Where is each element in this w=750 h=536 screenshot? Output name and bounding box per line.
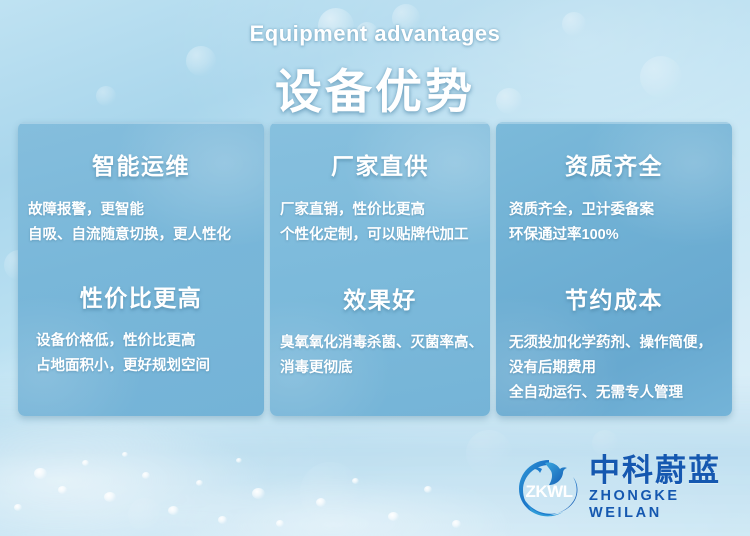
advantage-body: 厂家直销，性价比更高 个性化定制，可以贴牌代加工 <box>270 181 490 248</box>
advantage-block: 性价比更高 设备价格低，性价比更高 占地面积小，更好规划空间 <box>18 248 264 379</box>
advantage-line: 环保通过率100% <box>509 223 732 248</box>
advantage-line: 资质齐全，卫计委备案 <box>509 198 732 223</box>
page-title-cn: 设备优势 <box>0 53 750 122</box>
advantage-line: 消毒更彻底 <box>280 356 490 381</box>
advantage-line: 故障报警，更智能 <box>28 198 264 223</box>
advantage-heading: 厂家直供 <box>270 147 490 181</box>
advantage-block: 厂家直供 厂家直销，性价比更高 个性化定制，可以贴牌代加工 <box>270 122 490 248</box>
advantage-heading: 资质齐全 <box>496 147 732 181</box>
page-title-en: Equipment advantages <box>0 21 750 47</box>
advantage-panel-1[interactable]: 智能运维 故障报警，更智能 自吸、自流随意切换，更人性化 性价比更高 设备价格低… <box>18 122 264 416</box>
advantage-body: 故障报警，更智能 自吸、自流随意切换，更人性化 <box>18 181 264 248</box>
company-logo[interactable]: ZKWL 中科蔚蓝 ZHONGKE WEILAN <box>515 452 737 522</box>
advantage-block: 资质齐全 资质齐全，卫计委备案 环保通过率100% <box>496 122 732 248</box>
advantage-heading: 节约成本 <box>496 281 732 315</box>
advantage-heading: 效果好 <box>270 281 490 315</box>
advantage-heading: 智能运维 <box>18 147 264 181</box>
advantage-body: 臭氧氧化消毒杀菌、灭菌率高、 消毒更彻底 <box>270 315 490 381</box>
advantage-panel-3[interactable]: 资质齐全 资质齐全，卫计委备案 环保通过率100% 节约成本 无须投加化学药剂、… <box>496 122 732 416</box>
advantage-line: 自吸、自流随意切换，更人性化 <box>28 223 264 248</box>
advantage-body: 无须投加化学药剂、操作简便， 没有后期费用 全自动运行、无需专人管理 <box>496 315 732 406</box>
advantage-panels: 智能运维 故障报警，更智能 自吸、自流随意切换，更人性化 性价比更高 设备价格低… <box>18 122 732 416</box>
logo-name-en: ZHONGKE WEILAN <box>589 488 737 522</box>
logo-wordmark: 中科蔚蓝 ZHONGKE WEILAN <box>589 452 737 522</box>
advantage-line: 占地面积小，更好规划空间 <box>36 354 264 379</box>
advantage-body: 资质齐全，卫计委备案 环保通过率100% <box>496 181 732 248</box>
poster-canvas: Equipment advantages 设备优势 智能运维 故障报警，更智能 … <box>0 0 750 536</box>
logo-name-cn: 中科蔚蓝 <box>589 454 737 488</box>
advantage-block: 效果好 臭氧氧化消毒杀菌、灭菌率高、 消毒更彻底 <box>270 248 490 381</box>
advantage-line: 臭氧氧化消毒杀菌、灭菌率高、 <box>280 331 490 356</box>
advantage-line: 设备价格低，性价比更高 <box>36 329 264 354</box>
advantage-line: 个性化定制，可以贴牌代加工 <box>280 223 490 248</box>
advantage-heading: 性价比更高 <box>18 279 264 313</box>
advantage-line: 全自动运行、无需专人管理 <box>509 381 732 406</box>
advantage-block: 智能运维 故障报警，更智能 自吸、自流随意切换，更人性化 <box>18 122 264 248</box>
advantage-block: 节约成本 无须投加化学药剂、操作简便， 没有后期费用 全自动运行、无需专人管理 <box>496 248 732 406</box>
zkwl-dolphin-wave-icon: ZKWL <box>515 455 583 519</box>
advantage-body: 设备价格低，性价比更高 占地面积小，更好规划空间 <box>18 313 264 379</box>
advantage-panel-2[interactable]: 厂家直供 厂家直销，性价比更高 个性化定制，可以贴牌代加工 效果好 臭氧氧化消毒… <box>270 122 490 416</box>
advantage-line: 没有后期费用 <box>509 356 732 381</box>
advantage-line: 无须投加化学药剂、操作简便， <box>509 331 732 356</box>
advantage-line: 厂家直销，性价比更高 <box>280 198 490 223</box>
svg-text:ZKWL: ZKWL <box>525 482 572 501</box>
